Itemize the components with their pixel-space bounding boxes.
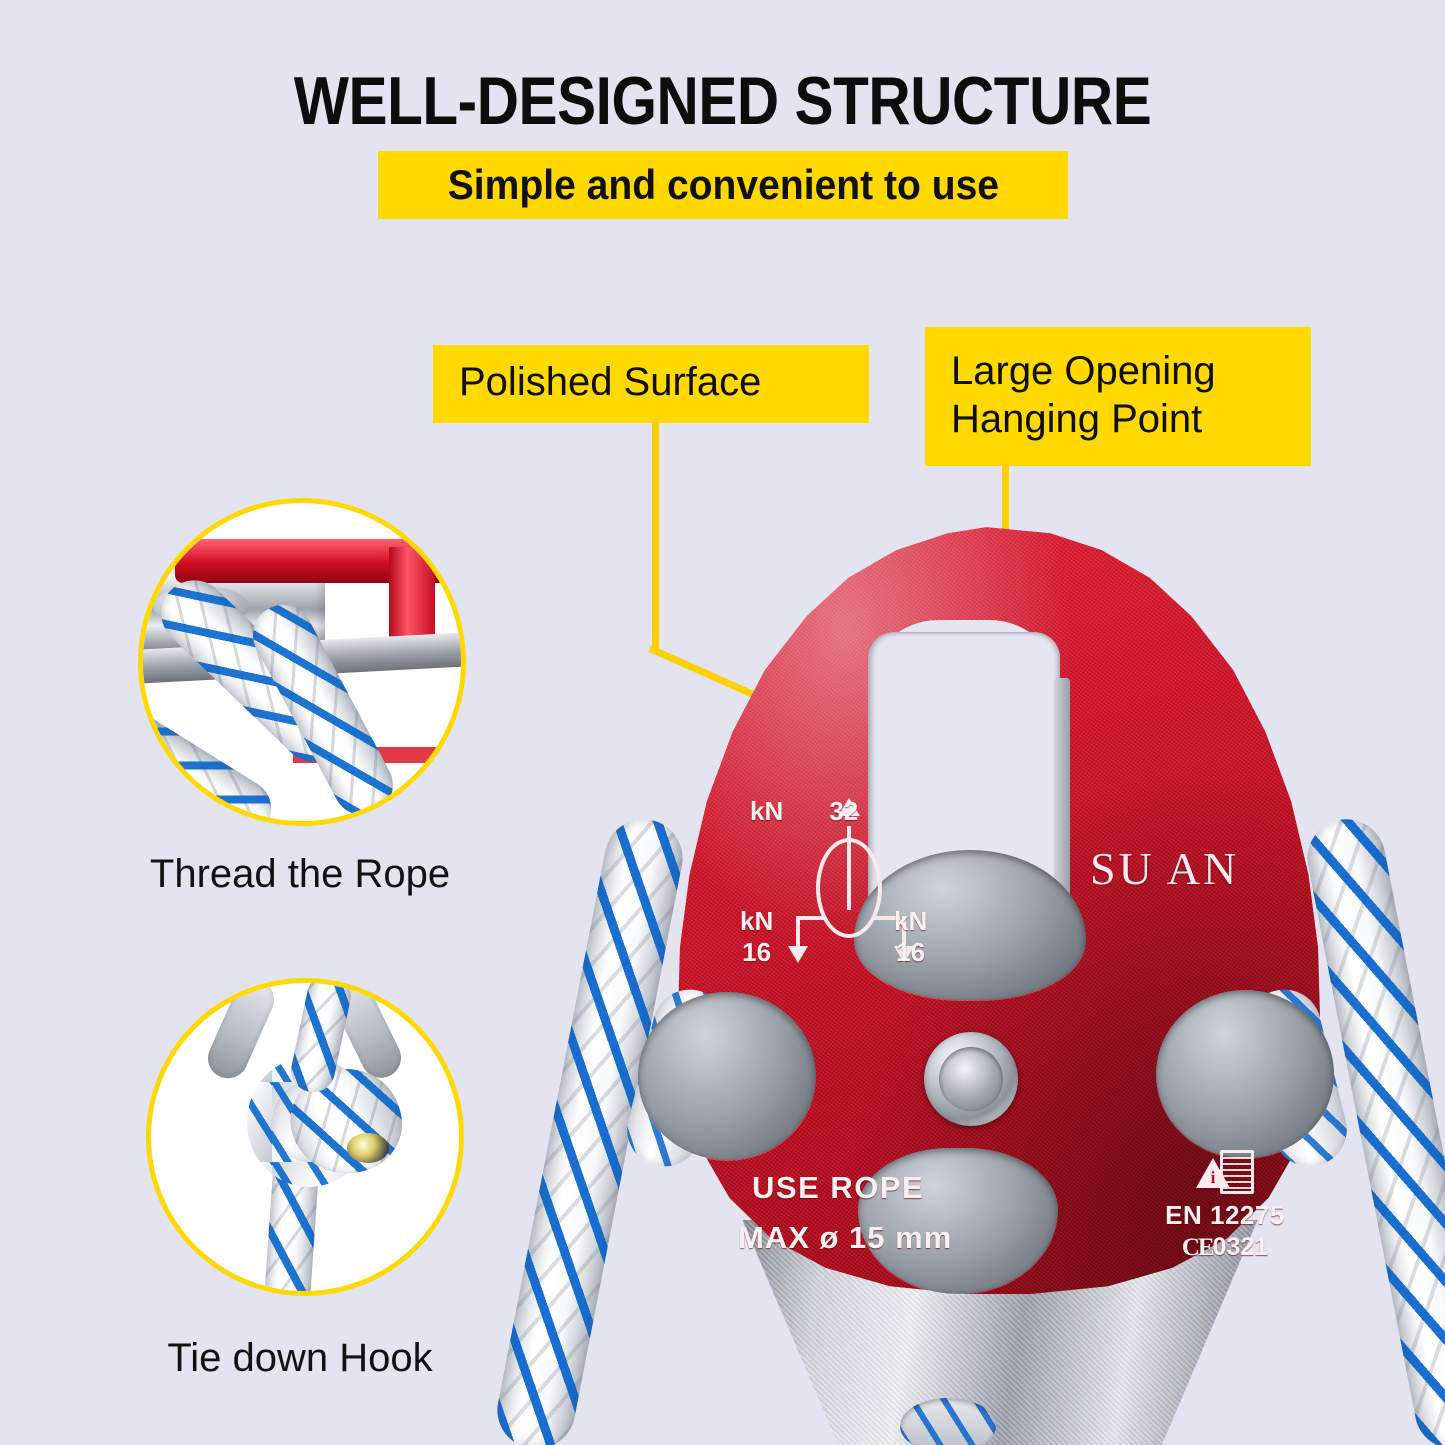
subtitle-banner: Simple and convenient to use bbox=[378, 151, 1068, 219]
pulley-product-photo: kN 32 kN 16 kN 16 SU AN USE ROPE MAX ø 1… bbox=[600, 520, 1445, 1445]
inset-caption-thread-the-rope: Thread the Rope bbox=[60, 852, 540, 897]
load-rating-diagram: kN 32 kN 16 kN 16 bbox=[742, 796, 962, 966]
rope-core-detail bbox=[347, 1133, 389, 1163]
rope-spec-line2: MAX ø 15 mm bbox=[738, 1220, 952, 1256]
webbing-fork-left bbox=[202, 978, 281, 1085]
load-value-left: 16 bbox=[742, 937, 771, 968]
becket-rope-hole bbox=[900, 1398, 996, 1445]
load-diagram-stem bbox=[847, 826, 851, 910]
warning-triangle-icon bbox=[1196, 1158, 1230, 1188]
page-title: WELL-DESIGNED STRUCTURE bbox=[101, 62, 1344, 140]
load-line-left-down bbox=[796, 916, 800, 950]
window-left bbox=[638, 992, 816, 1160]
load-label-left: kN 16 bbox=[740, 906, 773, 968]
load-unit-top: kN bbox=[750, 796, 783, 827]
window-right bbox=[1156, 990, 1334, 1158]
inset-caption-tie-down-hook: Tie down Hook bbox=[60, 1336, 540, 1381]
load-unit-right: kN bbox=[894, 906, 927, 937]
load-line-left bbox=[798, 916, 824, 920]
inset-thread-the-rope bbox=[138, 498, 466, 826]
load-label-top: kN 32 bbox=[750, 796, 858, 827]
callout-hanging-point: Large Opening Hanging Point bbox=[925, 327, 1311, 466]
ce-mark-glyph: CE bbox=[1182, 1234, 1213, 1261]
certification-block: EN 12275 CE0321 bbox=[1145, 1150, 1305, 1262]
load-value-right: 16 bbox=[896, 937, 925, 968]
infographic-canvas: WELL-DESIGNED STRUCTURE Simple and conve… bbox=[0, 0, 1445, 1445]
load-unit-left: kN bbox=[740, 906, 773, 937]
rope-spec-line1: USE ROPE bbox=[752, 1170, 924, 1206]
load-label-right: kN 16 bbox=[894, 906, 927, 968]
subtitle-text: Simple and convenient to use bbox=[447, 161, 998, 209]
callout-polished-surface: Polished Surface bbox=[433, 345, 869, 423]
load-arrow-down-left-icon bbox=[788, 946, 808, 963]
load-value-top: 32 bbox=[829, 796, 858, 827]
inset-tie-down-hook bbox=[146, 978, 464, 1296]
ce-mark-row: CE0321 bbox=[1145, 1233, 1305, 1262]
brand-engraving: SU AN bbox=[1090, 842, 1239, 895]
certification-standard: EN 12275 bbox=[1145, 1200, 1305, 1231]
center-axle-rivet bbox=[924, 1032, 1018, 1126]
read-instructions-icon bbox=[1196, 1150, 1254, 1196]
ce-notified-body-number: 0321 bbox=[1213, 1233, 1269, 1261]
